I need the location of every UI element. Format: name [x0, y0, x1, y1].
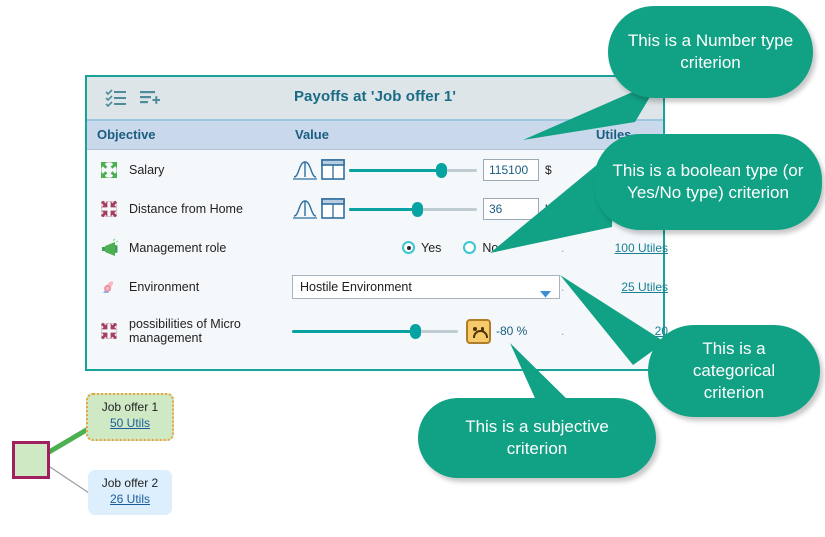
decision-tree: Job offer 1 50 Utils Job offer 2 26 Util… [0, 385, 220, 535]
micro-management-slider[interactable] [292, 323, 458, 339]
radio-dot-yes [402, 241, 415, 254]
collapse-arrows-maroon-icon [99, 199, 119, 219]
callout-bubble: This is a Number type criterion [608, 6, 813, 98]
slider-fill [349, 208, 417, 211]
objective-label: Salary [129, 163, 289, 177]
collapse-arrows-maroon-icon [99, 321, 119, 341]
tree-root-node[interactable] [12, 441, 50, 479]
environment-selected-value: Hostile Environment [293, 280, 412, 294]
distribution-curve-icon[interactable] [292, 158, 318, 182]
screenshot-root: Payoffs at 'Job offer 1' Objective Value… [0, 0, 825, 537]
slider-fill [292, 330, 415, 333]
salary-slider[interactable] [349, 162, 477, 178]
slider-thumb[interactable] [436, 163, 447, 178]
distance-slider[interactable] [349, 201, 477, 217]
tree-node-title: Job offer 2 [102, 476, 158, 490]
row-value-micro: -80 % [292, 306, 527, 356]
radio-label-yes: Yes [421, 241, 441, 255]
ok-hand-icon [99, 277, 119, 297]
slider-thumb[interactable] [412, 202, 423, 217]
radio-dot-no [463, 241, 476, 254]
column-header-objective: Objective [97, 127, 156, 142]
megaphone-green-icon [99, 238, 119, 258]
radio-yes[interactable]: Yes [402, 241, 441, 255]
callout-bubble: This is a subjective criterion [418, 398, 656, 478]
objective-label: Distance from Home [129, 202, 289, 216]
micro-management-percent: -80 % [496, 324, 527, 338]
slider-fill [349, 169, 441, 172]
chevron-down-icon[interactable] [540, 285, 551, 303]
frown-mouth [473, 330, 488, 338]
objective-label: Management role [129, 241, 289, 255]
slider-thumb[interactable] [410, 324, 421, 339]
table-grid-icon[interactable] [321, 159, 345, 180]
distribution-curve-icon[interactable] [292, 197, 318, 221]
expand-arrows-green-icon [99, 160, 119, 180]
tree-node-title: Job offer 1 [102, 400, 158, 414]
tree-node-job-offer-1[interactable]: Job offer 1 50 Utils [86, 393, 174, 441]
objective-label: Environment [129, 280, 289, 294]
sad-face-icon[interactable] [466, 319, 491, 344]
environment-dropdown[interactable]: Hostile Environment [292, 275, 560, 299]
tree-node-utils[interactable]: 50 Utils [88, 416, 172, 430]
callout-bubble: This is a boolean type (or Yes/No type) … [594, 134, 822, 230]
tree-node-utils[interactable]: 26 Utils [89, 492, 171, 506]
callout-bubble: This is a categorical criterion [648, 325, 820, 417]
tree-node-job-offer-2[interactable]: Job offer 2 26 Utils [88, 470, 172, 515]
row-value-environment: Hostile Environment [292, 267, 560, 306]
column-header-value: Value [295, 127, 329, 142]
objective-label: possibilities of Micro management [129, 317, 289, 345]
table-grid-icon[interactable] [321, 198, 345, 219]
